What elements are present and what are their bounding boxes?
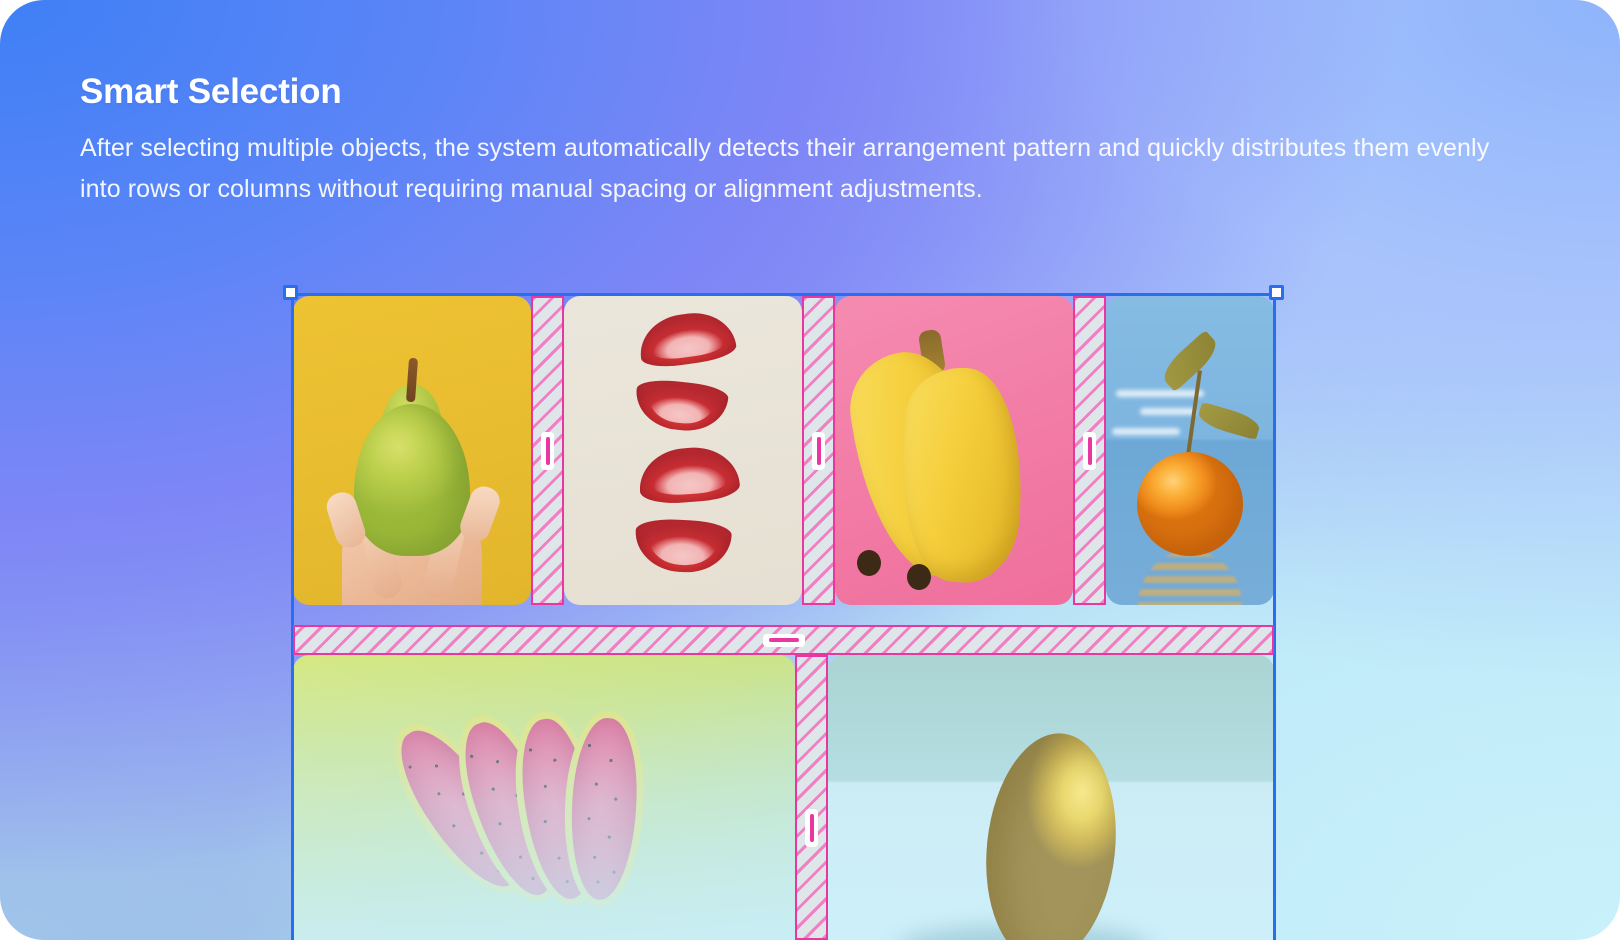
gap-drag-handle[interactable] <box>805 809 818 847</box>
orange-shape <box>1137 452 1243 556</box>
page-title: Smart Selection <box>80 72 1510 112</box>
page-subtitle: After selecting multiple objects, the sy… <box>80 128 1490 209</box>
header: Smart Selection After selecting multiple… <box>80 72 1510 209</box>
selection-frame[interactable] <box>291 293 1276 940</box>
gap-drag-handle[interactable] <box>541 432 554 470</box>
spacing-indicator-2[interactable] <box>802 296 835 605</box>
selection-edge-top <box>291 293 1276 296</box>
selection-handle-top-left[interactable] <box>283 285 298 300</box>
spacing-indicator-1[interactable] <box>531 296 564 605</box>
gap-drag-handle[interactable] <box>1083 432 1096 470</box>
spacing-indicator-3[interactable] <box>1073 296 1106 605</box>
selection-edge-left <box>291 293 294 940</box>
feature-card: Smart Selection After selecting multiple… <box>0 0 1620 940</box>
spacing-indicator-row[interactable] <box>293 625 1274 655</box>
gap-drag-handle[interactable] <box>812 432 825 470</box>
selection-handle-top-right[interactable] <box>1269 285 1284 300</box>
selection-edge-right <box>1273 293 1276 940</box>
gap-drag-handle[interactable] <box>763 634 805 647</box>
spacing-indicator-4[interactable] <box>795 655 828 940</box>
